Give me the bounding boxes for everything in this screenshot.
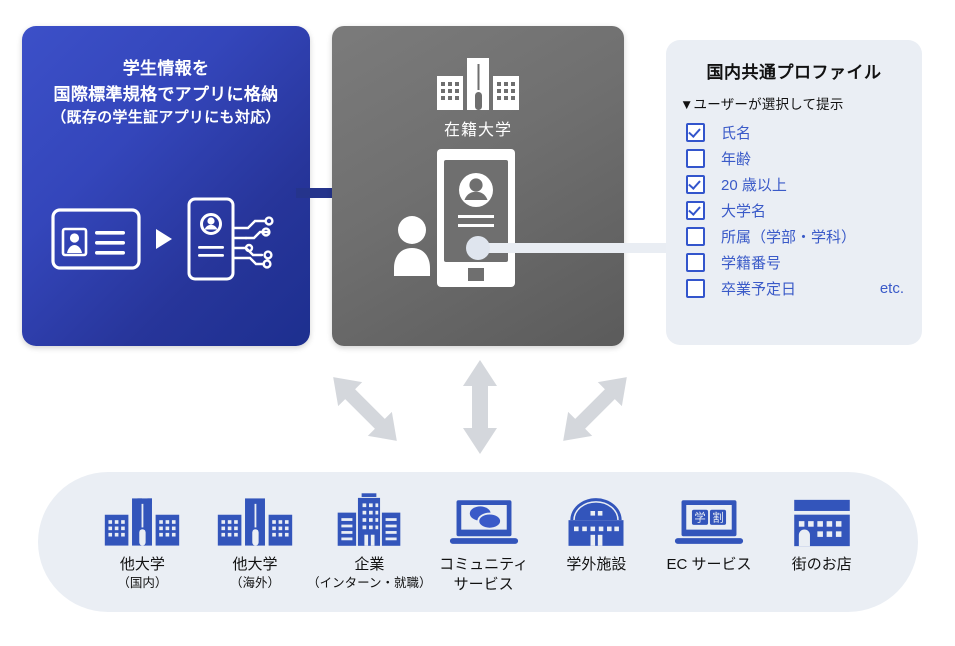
service-item-off-campus-facility[interactable]: 学外施設 [540, 494, 653, 575]
list-item-label: 卒業予定日 [721, 278, 796, 299]
headline-line-3: （既存の学生証アプリにも対応） [22, 107, 310, 130]
service-item-ec-service[interactable]: 学 割 EC サービス [653, 494, 766, 575]
service-label: 街のお店 [792, 555, 852, 575]
etc-label: etc. [880, 280, 904, 297]
university-label: 在籍大学 [332, 116, 624, 140]
service-sublabel: （海外） [230, 575, 280, 591]
smartphone-profile-icon [436, 148, 516, 293]
headline-line-2: 国際標準規格でアプリに格納 [22, 82, 310, 108]
laptop-discount-icon: 学 割 [673, 494, 745, 548]
service-label: 他大学 [233, 555, 278, 575]
diagram-canvas: 学生情報を 国際標準規格でアプリに格納 （既存の学生証アプリにも対応） [0, 0, 955, 646]
connector-arrows [300, 352, 660, 462]
list-item-label: 大学名 [721, 200, 766, 221]
checkbox-icon[interactable] [686, 227, 705, 246]
list-item-label: 年齢 [721, 148, 751, 169]
play-triangle-icon [154, 227, 174, 256]
service-label: 学外施設 [566, 555, 626, 575]
common-profile-panel: 国内共通プロファイル ▼ユーザーが選択して提示 氏名 年齢 20 歳以上 大学名… [666, 40, 922, 345]
blue-card-illustration [22, 186, 310, 296]
checkbox-icon[interactable] [686, 149, 705, 168]
service-sublabel: （インターン・就職） [307, 575, 431, 591]
checkbox-icon[interactable] [686, 201, 705, 220]
profile-panel-title: 国内共通プロファイル [666, 58, 922, 83]
service-item-company[interactable]: 企業 （インターン・就職） [311, 494, 427, 591]
list-item[interactable]: 所属（学部・学科） [666, 223, 922, 249]
person-icon [388, 214, 436, 281]
service-label: 企業 [354, 555, 384, 575]
student-info-card: 学生情報を 国際標準規格でアプリに格納 （既存の学生証アプリにも対応） [22, 26, 310, 346]
svg-text:学: 学 [694, 511, 705, 525]
university-building-icon [435, 56, 521, 117]
checkbox-icon[interactable] [686, 279, 705, 298]
svg-text:割: 割 [712, 511, 723, 525]
headline-line-1: 学生情報を [22, 56, 310, 82]
company-building-icon [334, 494, 404, 548]
checkbox-icon[interactable] [686, 253, 705, 272]
university-building-icon [103, 494, 181, 548]
service-item-other-university-overseas[interactable]: 他大学 （海外） [199, 494, 312, 591]
list-item-label: 所属（学部・学科） [721, 226, 856, 247]
service-label: コミュニティ サービス [439, 555, 528, 594]
list-item-label: 20 歳以上 [721, 174, 787, 195]
service-item-other-university-domestic[interactable]: 他大学 （国内） [86, 494, 199, 591]
checkbox-icon[interactable] [686, 123, 705, 142]
service-item-local-shop[interactable]: 街のお店 [765, 494, 878, 575]
list-item[interactable]: 年齢 [666, 145, 922, 171]
service-item-community[interactable]: コミュニティ サービス [427, 494, 540, 594]
service-label: EC サービス [667, 555, 752, 575]
dome-facility-icon [563, 494, 629, 548]
id-card-icon [50, 207, 142, 276]
services-row: 他大学 （国内） [38, 472, 918, 612]
list-item[interactable]: 卒業予定日 etc. [666, 275, 922, 301]
connector-dot [466, 236, 490, 260]
list-item-label: 学籍番号 [721, 252, 781, 273]
list-item[interactable]: 大学名 [666, 197, 922, 223]
list-item[interactable]: 学籍番号 [666, 249, 922, 275]
university-building-icon [216, 494, 294, 548]
list-item[interactable]: 氏名 [666, 119, 922, 145]
list-item-label: 氏名 [721, 122, 751, 143]
digital-id-circuit-icon [186, 196, 282, 287]
laptop-chat-icon [448, 494, 520, 548]
service-sublabel: （国内） [117, 575, 167, 591]
external-services-panel: 他大学 （国内） [38, 472, 918, 612]
profile-attribute-list: 氏名 年齢 20 歳以上 大学名 所属（学部・学科） 学籍番号 [666, 119, 922, 301]
list-item[interactable]: 20 歳以上 [666, 171, 922, 197]
profile-panel-subtitle: ▼ユーザーが選択して提示 [680, 93, 922, 113]
shop-storefront-icon [788, 494, 856, 548]
checkbox-icon[interactable] [686, 175, 705, 194]
service-label: 他大学 [120, 555, 165, 575]
blue-card-headline: 学生情報を 国際標準規格でアプリに格納 （既存の学生証アプリにも対応） [22, 56, 310, 130]
connector-line [476, 243, 676, 253]
home-university-card: 在籍大学 [332, 26, 624, 346]
